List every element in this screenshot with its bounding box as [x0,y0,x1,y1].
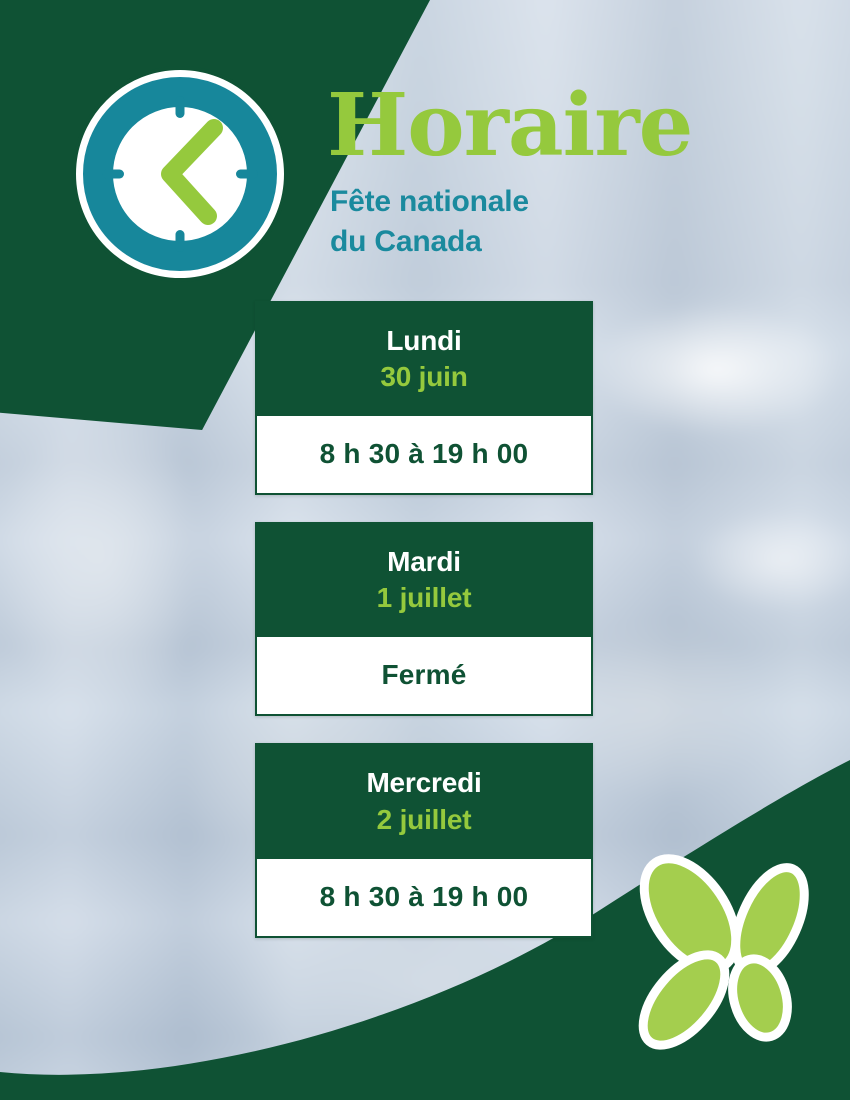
schedule-date: 1 juillet [265,580,583,615]
page-title: Horaire [327,84,747,168]
schedule-list: Lundi 30 juin 8 h 30 à 19 h 00 Mardi 1 j… [255,301,593,938]
schedule-hours: 8 h 30 à 19 h 00 [255,416,593,495]
clock-icon [72,66,288,282]
subtitle-line-1: Fête nationale [330,182,747,222]
schedule-date: 2 juillet [265,802,583,837]
schedule-card: Lundi 30 juin 8 h 30 à 19 h 00 [255,301,593,495]
schedule-poster: Horaire Fête nationale du Canada Lundi 3… [0,0,850,1100]
schedule-card-header: Mercredi 2 juillet [255,743,593,858]
schedule-day: Mardi [265,546,583,578]
schedule-date: 30 juin [265,359,583,394]
schedule-card-header: Mardi 1 juillet [255,522,593,637]
schedule-card-header: Lundi 30 juin [255,301,593,416]
schedule-day: Mercredi [265,767,583,799]
subtitle-line-2: du Canada [330,222,747,262]
butterfly-flower-logo-icon [612,852,842,1064]
schedule-card: Mardi 1 juillet Fermé [255,522,593,716]
poster-subtitle: Fête nationale du Canada [330,182,747,262]
schedule-card: Mercredi 2 juillet 8 h 30 à 19 h 00 [255,743,593,937]
schedule-hours: Fermé [255,637,593,716]
schedule-day: Lundi [265,325,583,357]
schedule-hours: 8 h 30 à 19 h 00 [255,859,593,938]
poster-header: Horaire Fête nationale du Canada [327,84,747,262]
